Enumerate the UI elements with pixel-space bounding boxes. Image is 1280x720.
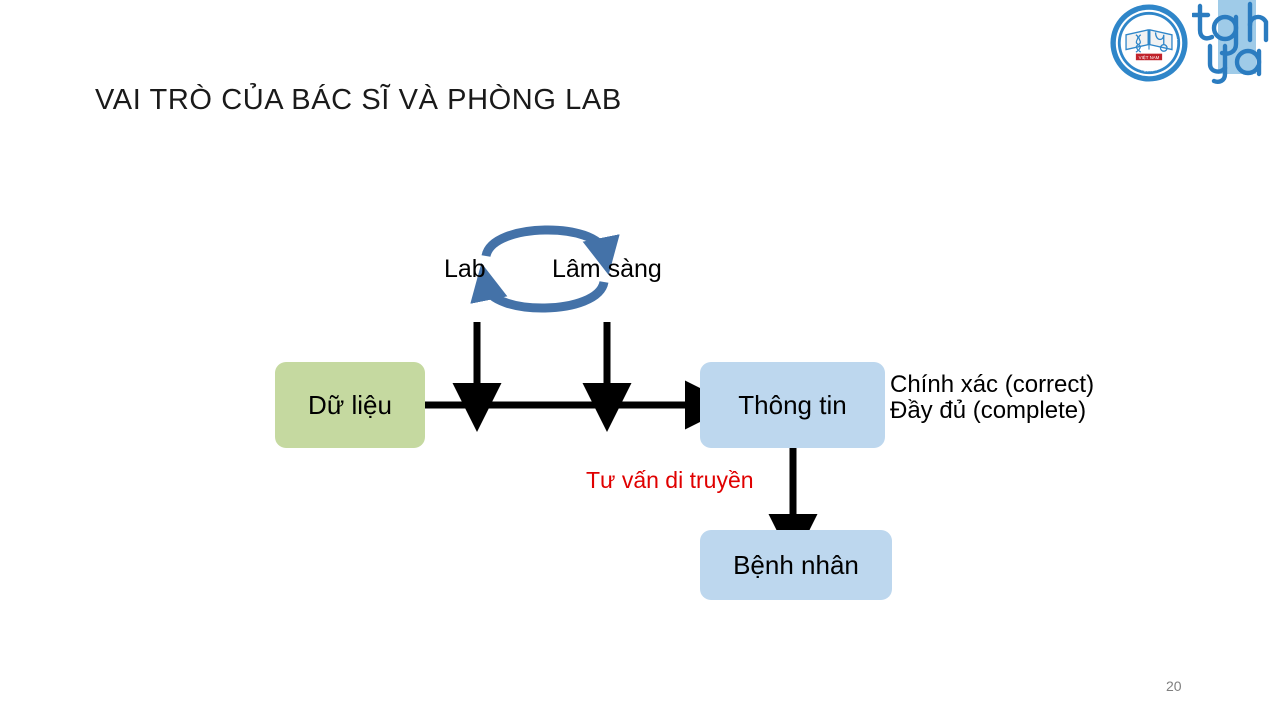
node-label-data: Dữ liệu	[308, 390, 392, 421]
logo-block: ĐẠI HỌC Y DƯỢC THÀNH PHỐ HỒ CHÍ MINH VIỆ…	[1100, 0, 1280, 86]
node-label-information: Thông tin	[738, 390, 846, 421]
cycle-label-lab: Lab	[444, 255, 486, 284]
page-title: VAI TRÒ CỦA BÁC SĨ VÀ PHÒNG LAB	[95, 84, 622, 117]
node-box-patient: Bệnh nhân	[700, 530, 892, 600]
genetic-counseling-label: Tư vấn di truyền	[586, 467, 754, 494]
cycle-arrow-bottom	[486, 282, 604, 308]
cycle-arrow-top	[486, 230, 604, 256]
node-label-patient: Bệnh nhân	[733, 550, 859, 581]
node-box-data: Dữ liệu	[275, 362, 425, 448]
information-quality-note: Chính xác (correct) Đầy đủ (complete)	[890, 372, 1094, 424]
tgh-ya-wordmark-icon	[1192, 0, 1280, 84]
page-number: 20	[1166, 678, 1182, 694]
svg-text:· 1947 ·: · 1947 ·	[1141, 68, 1158, 74]
slide-canvas: VAI TRÒ CỦA BÁC SĨ VÀ PHÒNG LAB ĐẠI HỌC …	[0, 0, 1280, 720]
cycle-label-clinical: Lâm sàng	[552, 255, 662, 284]
quality-correct: Chính xác (correct)	[890, 372, 1094, 398]
university-seal-icon: ĐẠI HỌC Y DƯỢC THÀNH PHỐ HỒ CHÍ MINH VIỆ…	[1108, 2, 1190, 84]
node-box-information: Thông tin	[700, 362, 885, 448]
quality-complete: Đầy đủ (complete)	[890, 398, 1094, 424]
